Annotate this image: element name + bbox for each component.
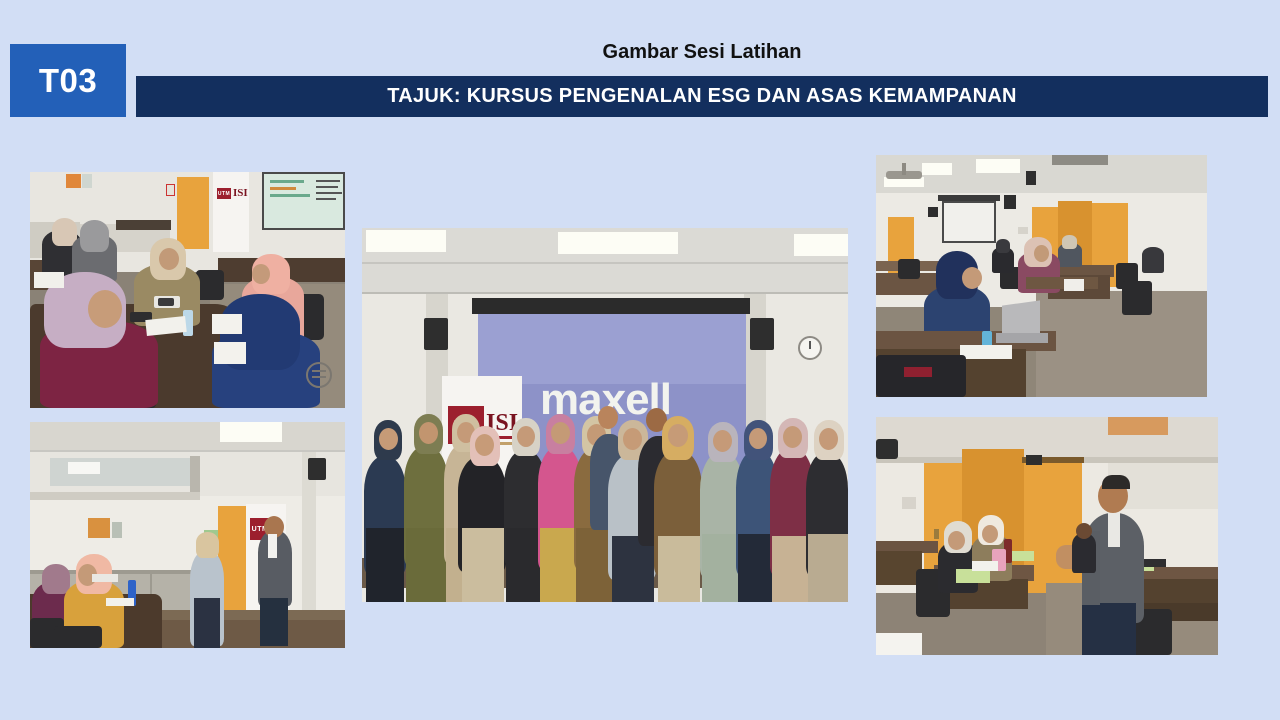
section-caption: Gambar Sesi Latihan (136, 41, 1268, 63)
photo-group-discussion: UTM ISI (30, 172, 345, 408)
photo-scene: maxell UTM ISI (362, 228, 848, 602)
slide-header: T03 Gambar Sesi Latihan TAJUK: KURSUS PE… (0, 0, 1280, 135)
photo-scene (876, 155, 1207, 397)
session-code-label: T03 (39, 64, 97, 97)
photo-scene (876, 417, 1218, 655)
title-bar-label: TAJUK: KURSUS PENGENALAN ESG DAN ASAS KE… (387, 85, 1017, 108)
photo-presenter-with-banner: UTM (30, 422, 345, 648)
title-bar: TAJUK: KURSUS PENGENALAN ESG DAN ASAS KE… (136, 76, 1268, 117)
session-code-badge: T03 (10, 44, 126, 117)
photo-scene: UTM (30, 422, 345, 648)
photo-scene: UTM ISI (30, 172, 345, 408)
photo-classroom-laptops (876, 155, 1207, 397)
photo-instructor-speaking (876, 417, 1218, 655)
photo-group-with-maxell-screen: maxell UTM ISI (362, 228, 848, 602)
